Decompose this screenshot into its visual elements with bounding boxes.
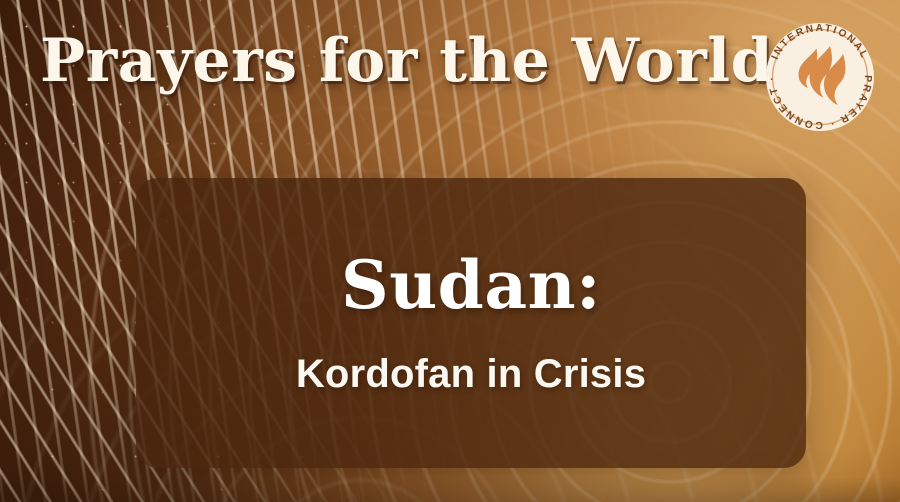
international-prayer-connect-logo: INTERNATIONAL PRAYER · CONNECT ·: [753, 10, 887, 144]
card-subheading: Kordofan in Crisis: [296, 354, 646, 394]
page-title: Prayers for the World: [40, 30, 773, 93]
card-heading: Sudan:: [341, 252, 601, 318]
prayer-slide: Prayers for the World INTERNATIONAL PRAY…: [0, 0, 900, 502]
content-card: Sudan: Kordofan in Crisis: [136, 178, 806, 468]
